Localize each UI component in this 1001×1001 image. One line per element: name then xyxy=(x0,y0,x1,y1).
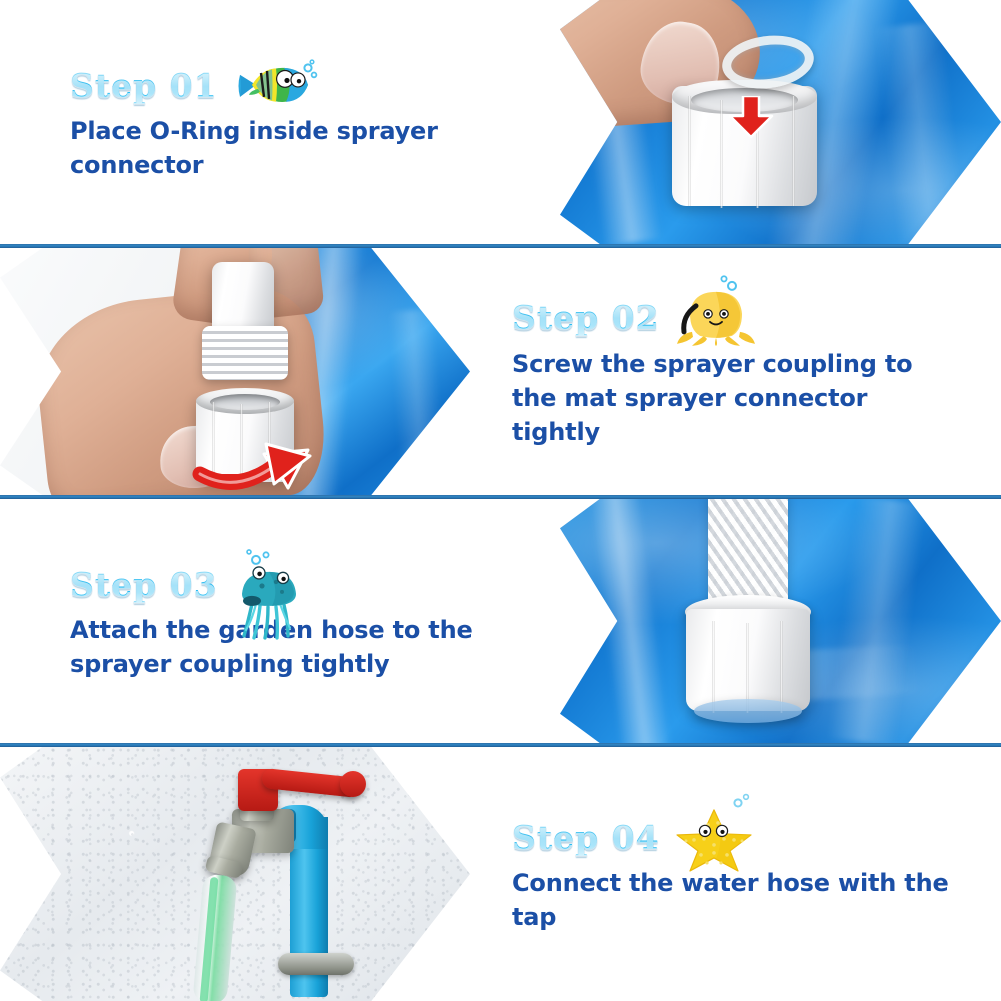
photo-screw-coupling xyxy=(0,248,470,495)
instruction-sheet: Step 01 xyxy=(0,0,1001,1001)
red-down-arrow-icon xyxy=(728,96,774,138)
starfish-icon xyxy=(674,811,754,863)
step-4-heading: Step 04 xyxy=(512,814,962,860)
step-row-3: Step 03 xyxy=(0,499,1001,743)
step-row-2: Step 02 xyxy=(0,248,1001,495)
step-3-label: Step 03 xyxy=(70,564,218,603)
tap-red-lever-knob xyxy=(340,771,366,797)
step-3-text-block: Step 03 xyxy=(70,561,500,681)
jellyfish-icon xyxy=(232,558,310,610)
photo-connect-hose-to-tap xyxy=(0,747,470,1001)
photo-oring-into-connector xyxy=(560,0,1001,244)
step-3-heading: Step 03 xyxy=(70,561,500,607)
step-1-body: Place O-Ring inside sprayer connector xyxy=(70,114,500,182)
step-1-text-block: Step 01 xyxy=(70,62,500,182)
photo-attach-garden-hose xyxy=(560,499,1001,743)
pipe-clamp xyxy=(278,953,354,975)
garden-hose xyxy=(708,499,788,607)
step-2-text-block: Step 02 xyxy=(512,294,962,448)
step-1-label: Step 01 xyxy=(70,65,218,104)
coupling-threads xyxy=(202,326,288,380)
step-4-label: Step 04 xyxy=(512,817,660,856)
step-4-body: Connect the water hose with the tap xyxy=(512,866,962,934)
step-2-heading: Step 02 xyxy=(512,294,962,340)
step-2-body: Screw the sprayer coupling to the mat sp… xyxy=(512,346,962,448)
step-row-1: Step 01 xyxy=(0,0,1001,244)
step-2-label: Step 02 xyxy=(512,298,660,337)
fish-icon xyxy=(232,59,316,111)
step-row-4: Step 04 xyxy=(0,747,1001,1001)
red-curved-arrow-icon xyxy=(190,410,320,490)
step-4-text-block: Step 04 xyxy=(512,814,962,934)
octopus-icon xyxy=(674,291,758,343)
step-1-heading: Step 01 xyxy=(70,62,500,108)
